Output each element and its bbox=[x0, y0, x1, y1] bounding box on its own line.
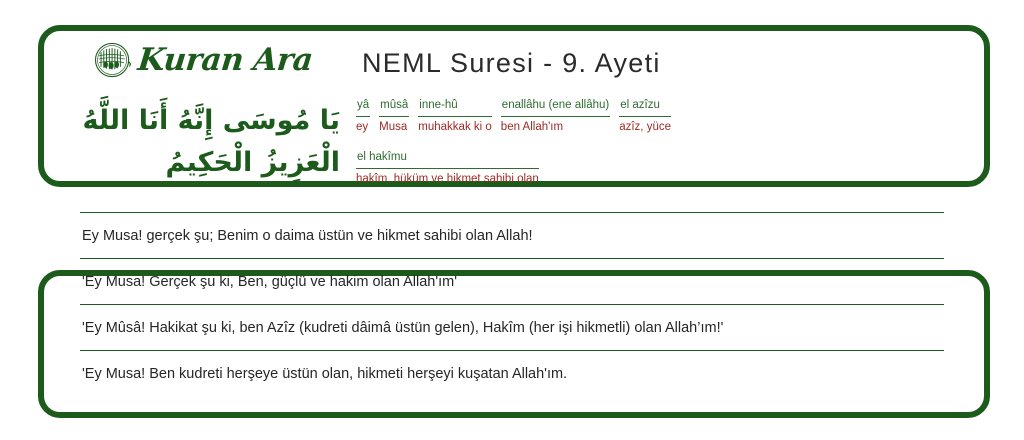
glossary-transliteration: mûsâ bbox=[379, 98, 409, 117]
translation-row[interactable]: 'Ey Musa! Ben kudreti herşeye üstün olan… bbox=[80, 350, 944, 396]
site-logo[interactable]: Kuran Ara bbox=[90, 36, 340, 84]
glossary-cell[interactable]: inne-hû muhakkak ki o bbox=[418, 98, 492, 135]
glossary-meaning: muhakkak ki o bbox=[418, 117, 492, 136]
glossary-row: el hakîmu hakîm, hüküm ve hikmet sahibi … bbox=[356, 150, 956, 187]
glossary-meaning: azîz, yüce bbox=[619, 117, 671, 136]
translations-list: Ey Musa! gerçek şu; Benim o daima üstün … bbox=[0, 212, 1024, 396]
glossary-meaning: Musa bbox=[379, 117, 409, 136]
verse-header: Kuran Ara NEML Suresi - 9. Ayeti يَا مُو… bbox=[0, 0, 1024, 210]
arabic-verse-text: يَا مُوسَى إِنَّهُ أَنَا اللَّهُ الْعَزِ… bbox=[60, 100, 340, 184]
glossary-transliteration: inne-hû bbox=[418, 98, 492, 117]
glossary-cell[interactable]: enallâhu (ene allâhu) ben Allah'ım bbox=[501, 98, 610, 135]
glossary-cell[interactable]: yâ ey bbox=[356, 98, 370, 135]
glossary-transliteration: enallâhu (ene allâhu) bbox=[501, 98, 610, 117]
glossary-meaning: ey bbox=[356, 117, 370, 136]
translation-row[interactable]: 'Ey Musa! Gerçek şu ki, Ben, güçlü ve ha… bbox=[80, 258, 944, 304]
glossary-meaning: hakîm, hüküm ve hikmet sahibi olan bbox=[356, 169, 539, 188]
glossary-row: yâ ey mûsâ Musa inne-hû muhakkak ki o en… bbox=[356, 98, 956, 135]
translation-row[interactable]: 'Ey Mûsâ! Hakikat şu ki, ben Azîz (kudre… bbox=[80, 304, 944, 350]
glossary-cell[interactable]: mûsâ Musa bbox=[379, 98, 409, 135]
glossary-transliteration: el azîzu bbox=[619, 98, 671, 117]
quran-seal-icon bbox=[90, 37, 136, 83]
glossary-cell[interactable]: el hakîmu hakîm, hüküm ve hikmet sahibi … bbox=[356, 150, 539, 187]
page-title: NEML Suresi - 9. Ayeti bbox=[362, 48, 661, 79]
translation-text: 'Ey Musa! Ben kudreti herşeye üstün olan… bbox=[82, 364, 942, 385]
glossary-cell[interactable]: el azîzu azîz, yüce bbox=[619, 98, 671, 135]
translation-row[interactable]: Ey Musa! gerçek şu; Benim o daima üstün … bbox=[80, 212, 944, 258]
site-logo-wordmark: Kuran Ara bbox=[136, 42, 314, 78]
glossary-transliteration: yâ bbox=[356, 98, 370, 117]
page-canvas: Kuran Ara NEML Suresi - 9. Ayeti يَا مُو… bbox=[0, 0, 1024, 440]
word-by-word-glossary: yâ ey mûsâ Musa inne-hû muhakkak ki o en… bbox=[356, 98, 956, 202]
glossary-transliteration: el hakîmu bbox=[356, 150, 539, 169]
translation-text: 'Ey Mûsâ! Hakikat şu ki, ben Azîz (kudre… bbox=[82, 318, 942, 339]
translation-text: 'Ey Musa! Gerçek şu ki, Ben, güçlü ve ha… bbox=[82, 272, 942, 293]
glossary-meaning: ben Allah'ım bbox=[501, 117, 610, 136]
translation-text: Ey Musa! gerçek şu; Benim o daima üstün … bbox=[82, 226, 942, 247]
